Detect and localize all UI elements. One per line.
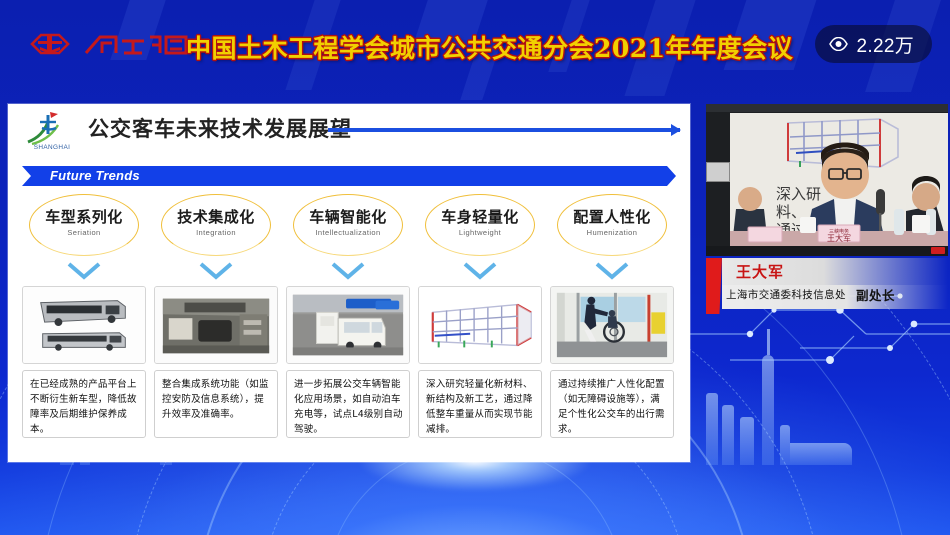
chevron-down-icon <box>22 256 146 286</box>
trend-photo <box>286 286 410 364</box>
slide-logo-caption: SHANGHAI <box>34 144 71 151</box>
society-emblem-icon <box>28 29 72 59</box>
trend-note: 整合集成系统功能（如监控安防及信息系统），提升效率及准确率。 <box>154 370 278 438</box>
trend-column: 车辆智能化 Intellectualization <box>286 194 410 438</box>
viewer-count: 2.22万 <box>857 31 914 58</box>
conference-title-bar: 中国土木工程学会城市公共交通分会2021年年度会议 2.22万 <box>0 0 950 92</box>
trend-column: 配置人性化 Humenization <box>550 194 674 438</box>
trend-photo <box>154 286 278 364</box>
video-picture: 深入研 料、 通过 <box>730 113 948 246</box>
trend-title-cn: 技术集成化 <box>154 206 278 227</box>
page-title: 中国土木工程学会城市公共交通分会2021年年度会议 <box>186 28 793 70</box>
trend-note: 进一步拓展公交车辆智能化应用场景，如自动泊车充电等，试点L4级别自动驾驶。 <box>286 370 410 438</box>
chevron-down-icon <box>418 256 542 286</box>
trend-photo <box>22 286 146 364</box>
eye-icon <box>829 37 848 51</box>
record-indicator <box>931 247 945 254</box>
trend-column: 车型系列化 Seriation <box>22 194 146 438</box>
trend-bubble: 车型系列化 Seriation <box>22 194 146 256</box>
trend-title-cn: 车身轻量化 <box>418 206 542 227</box>
trend-column: 车身轻量化 Lightweight <box>418 194 542 438</box>
trend-columns: 车型系列化 Seriation <box>22 194 678 438</box>
trend-bubble: 车辆智能化 Intellectualization <box>286 194 410 256</box>
trend-title-en: Integration <box>154 228 278 237</box>
speaker-organization: 上海市交通委科技信息处 <box>726 287 846 302</box>
shanghai-transit-logo-icon: SHANGHAI <box>24 108 80 154</box>
presentation-slide: SHANGHAI 公交客车未来技术发展展望 Future Trends 车型系列… <box>8 104 690 462</box>
speaker-name: 王大军 <box>736 261 784 282</box>
trend-bubble: 配置人性化 Humenization <box>550 194 674 256</box>
live-video-feed[interactable]: 深入研 料、 通过 <box>706 104 948 256</box>
conference-room-scene: 深入研 料、 通过 <box>730 113 948 246</box>
trend-title-cn: 车辆智能化 <box>286 206 410 227</box>
trend-title-en: Humenization <box>550 228 674 237</box>
speaker-accent-bar <box>706 258 722 314</box>
trend-title-en: Intellectualization <box>286 228 410 237</box>
speaker-role: 副处长 <box>856 285 895 304</box>
trend-photo <box>550 286 674 364</box>
future-trends-label: Future Trends <box>50 167 140 185</box>
trend-bubble: 技术集成化 Integration <box>154 194 278 256</box>
trend-note: 通过持续推广人性化配置（如无障碍设施等），满足个性化公交车的出行需求。 <box>550 370 674 438</box>
trend-title-en: Seriation <box>22 228 146 237</box>
chevron-down-icon <box>154 256 278 286</box>
trend-column: 技术集成化 Integration <box>154 194 278 438</box>
viewer-count-badge: 2.22万 <box>815 25 932 63</box>
trend-title-cn: 配置人性化 <box>550 206 674 227</box>
slide-header: SHANGHAI 公交客车未来技术发展展望 <box>8 104 690 156</box>
society-wordmark-icon <box>82 29 190 59</box>
speaker-lower-third: 王大军 上海市交通委科技信息处 副处长 <box>706 258 948 314</box>
nameplate-name: 王大军 <box>827 233 851 243</box>
trend-note: 深入研究轻量化新材料、新结构及新工艺，通过降低整车重量从而实现节能减排。 <box>418 370 542 438</box>
slide-title: 公交客车未来技术发展展望 <box>88 113 352 143</box>
video-top-chrome <box>706 104 948 112</box>
trend-note: 在已经成熟的产品平台上不断衍生新车型，降低故障率及后期维护保养成本。 <box>22 370 146 438</box>
self-view-thumbnail[interactable] <box>706 162 730 182</box>
chevron-down-icon <box>286 256 410 286</box>
trend-photo <box>418 286 542 364</box>
trend-title-en: Lightweight <box>418 228 542 237</box>
chevron-down-icon <box>550 256 674 286</box>
trend-bubble: 车身轻量化 Lightweight <box>418 194 542 256</box>
behind-slide-text-1: 深入研 <box>776 185 821 203</box>
society-logo <box>28 29 190 59</box>
trend-title-cn: 车型系列化 <box>22 206 146 227</box>
title-rule <box>328 128 680 132</box>
video-toolbar[interactable] <box>706 246 948 256</box>
